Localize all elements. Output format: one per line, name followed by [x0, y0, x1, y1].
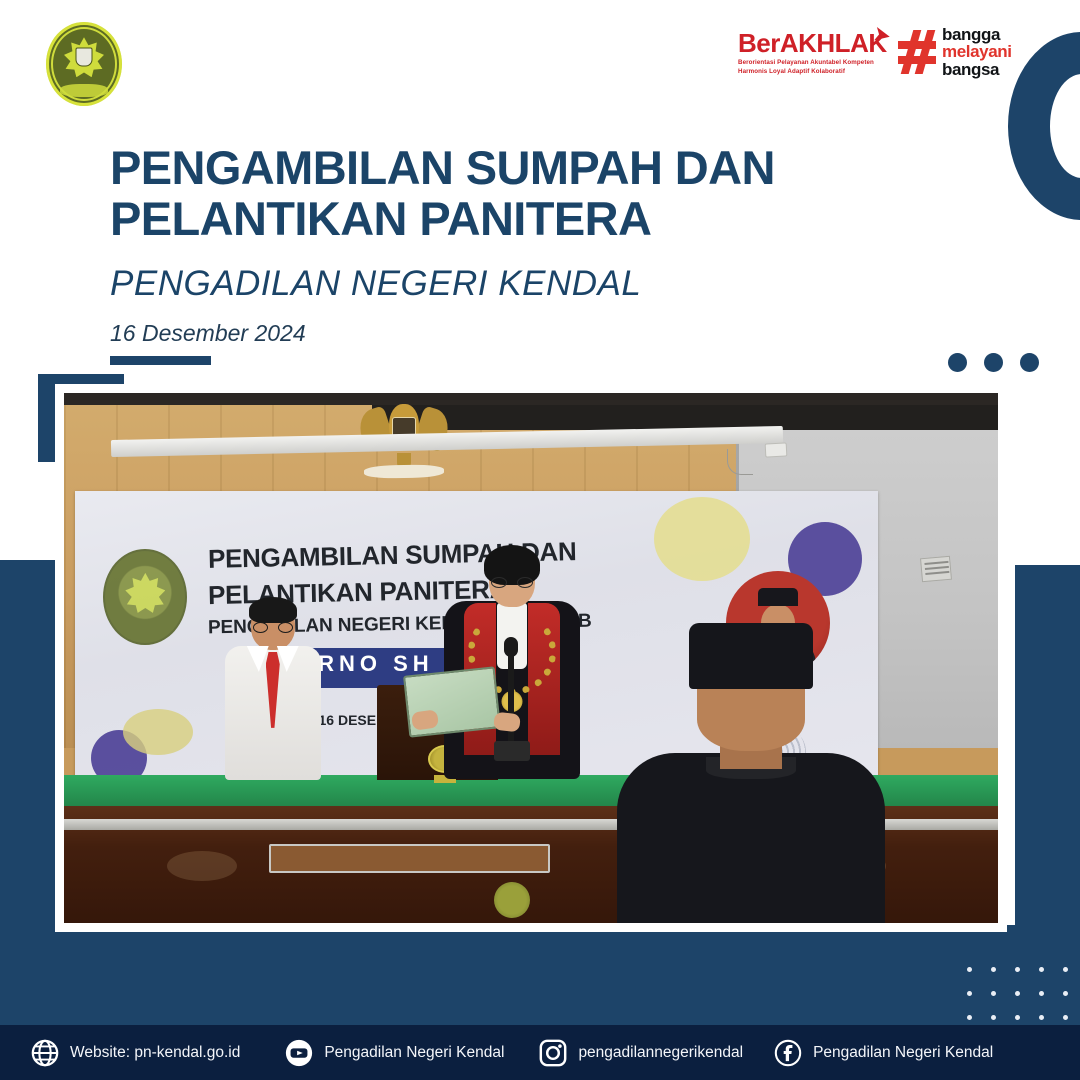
poster-canvas: BerAKHLAK ➤ Berorientasi Pelayanan Akunt…	[0, 0, 1080, 1080]
footer-item-instagram[interactable]: pengadilannegerikendal	[538, 1038, 743, 1068]
globe-icon	[30, 1038, 60, 1068]
photo-person-inaugurated	[616, 623, 886, 923]
footer-label-instagram: pengadilannegerikendal	[578, 1044, 743, 1062]
youtube-icon	[284, 1038, 314, 1068]
photo-ceiling-strip	[64, 393, 998, 405]
page-subtitle: PENGADILAN NEGERI KENDAL	[110, 264, 641, 304]
banner-blob-yellow	[654, 497, 750, 581]
instagram-icon	[538, 1038, 568, 1068]
berakhlak-chevron-icon: ➤	[872, 23, 892, 49]
photo-rail-switch	[764, 443, 787, 458]
photo-bench-medallion	[494, 882, 530, 918]
footer-item-facebook[interactable]: Pengadilan Negeri Kendal	[773, 1038, 993, 1068]
date-underline-rule	[110, 356, 211, 365]
hash-mark-icon	[898, 30, 936, 74]
photo-bench-panel	[269, 844, 549, 873]
bangga-line3: bangsa	[942, 61, 1012, 78]
title-line-1: PENGAMBILAN SUMPAH DAN	[110, 143, 910, 194]
bangga-melayani-bangsa-logo: bangga melayani bangsa	[898, 26, 1028, 78]
berakhlak-logo: BerAKHLAK ➤ Berorientasi Pelayanan Akunt…	[738, 30, 888, 77]
berakhlak-tagline-line1: Berorientasi Pelayanan Akuntabel Kompete…	[738, 59, 888, 68]
photo-person-official	[223, 600, 323, 780]
photo-rail-cord	[727, 449, 753, 475]
facebook-icon	[773, 1038, 803, 1068]
footer-label-website: Website: pn-kendal.go.id	[70, 1044, 240, 1062]
footer-item-website[interactable]: Website: pn-kendal.go.id	[30, 1038, 240, 1068]
title-line-2: PELANTIKAN PANITERA	[110, 194, 910, 245]
photo-person-judge	[442, 545, 582, 780]
decor-navy-right-block	[1015, 565, 1080, 925]
decor-square-accent-mid	[0, 560, 60, 620]
footer-label-facebook: Pengadilan Negeri Kendal	[813, 1044, 993, 1062]
footer-label-youtube: Pengadilan Negeri Kendal	[324, 1044, 504, 1062]
banner-blob-yellow-2	[123, 709, 193, 755]
event-photo-frame: PENGAMBILAN SUMPAH DAN PELANTIKAN PANITE…	[55, 384, 1007, 932]
court-seal-icon	[46, 22, 122, 106]
berakhlak-tagline-line2: Harmonis Loyal Adaptif Kolaboratif	[738, 68, 888, 77]
bangga-line2: melayani	[942, 43, 1012, 60]
banner-court-seal-icon	[103, 549, 187, 645]
footer-contact-list: Website: pn-kendal.go.id Pengadilan Nege…	[0, 1025, 1080, 1080]
photo-wall-vent	[920, 556, 952, 583]
photo-bench-carving-left	[167, 851, 237, 881]
page-title: PENGAMBILAN SUMPAH DAN PELANTIKAN PANITE…	[110, 143, 910, 245]
berakhlak-wordmark: BerAKHLAK	[738, 30, 888, 56]
event-date: 16 Desember 2024	[110, 320, 306, 347]
bangga-line1: bangga	[942, 26, 1012, 43]
footer-item-youtube[interactable]: Pengadilan Negeri Kendal	[284, 1038, 504, 1068]
event-photo: PENGAMBILAN SUMPAH DAN PELANTIKAN PANITE…	[64, 393, 998, 923]
decor-three-dots	[948, 353, 1039, 372]
